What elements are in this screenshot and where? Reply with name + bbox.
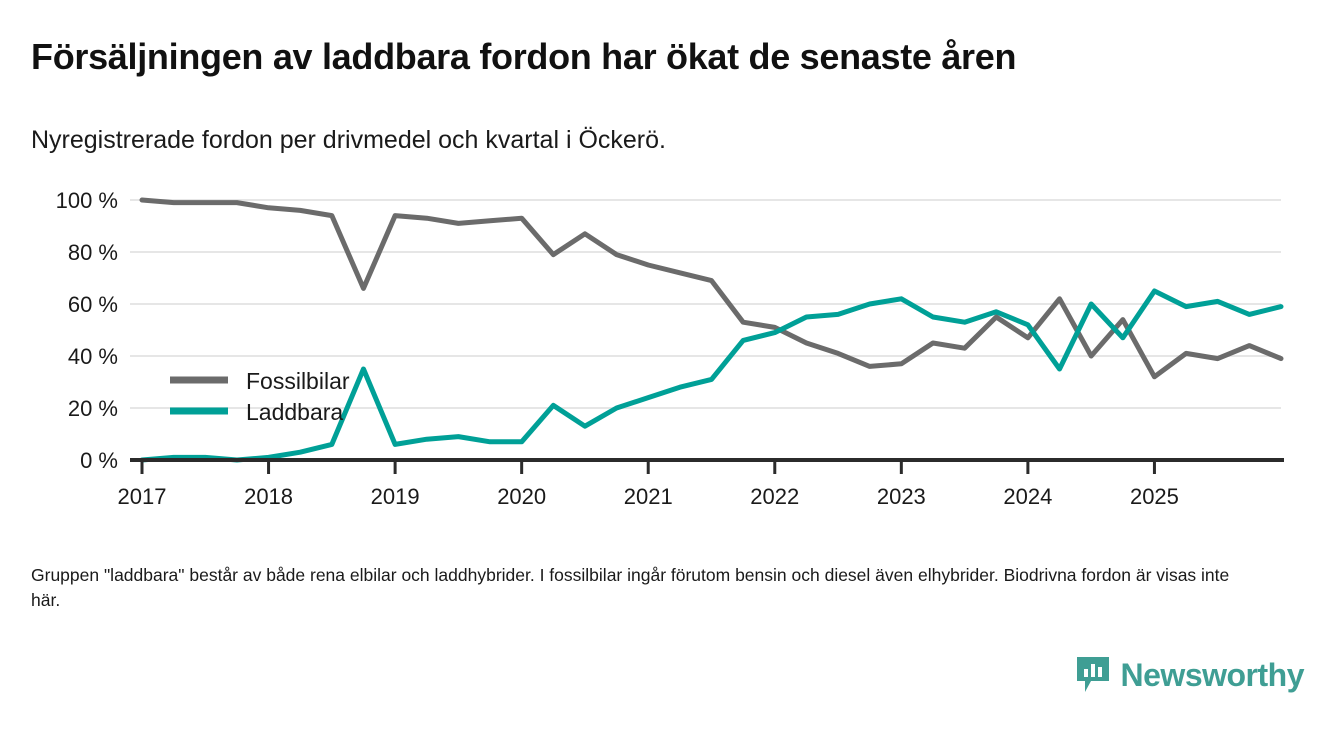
chart-svg: 0 %20 %40 %60 %80 %100 % 201720182019202… bbox=[0, 175, 1340, 520]
newsworthy-logo-text: Newsworthy bbox=[1121, 659, 1304, 691]
page-title: Försäljningen av laddbara fordon har öka… bbox=[31, 36, 1016, 78]
x-axis-tick-label: 2023 bbox=[877, 484, 926, 509]
newsworthy-logo: Newsworthy bbox=[1075, 655, 1304, 695]
x-axis-tick-label: 2025 bbox=[1130, 484, 1179, 509]
chart-footnote: Gruppen "laddbara" består av både rena e… bbox=[31, 563, 1246, 614]
x-axis-tick-label: 2021 bbox=[624, 484, 673, 509]
y-axis-tick-label: 20 % bbox=[68, 396, 118, 421]
line-chart: 0 %20 %40 %60 %80 %100 % 201720182019202… bbox=[0, 175, 1340, 520]
x-axis-tick-label: 2018 bbox=[244, 484, 293, 509]
y-axis-tick-label: 80 % bbox=[68, 240, 118, 265]
series-line-fossilbilar bbox=[142, 200, 1281, 377]
y-axis-tick-label: 100 % bbox=[56, 188, 118, 213]
newsworthy-bar-chart-icon bbox=[1075, 655, 1111, 695]
legend-label-laddbara: Laddbara bbox=[246, 399, 343, 425]
chart-page: Försäljningen av laddbara fordon har öka… bbox=[0, 0, 1340, 733]
y-axis-tick-label: 0 % bbox=[80, 448, 118, 473]
x-axis-tick-label: 2017 bbox=[118, 484, 167, 509]
y-axis-tick-label: 40 % bbox=[68, 344, 118, 369]
x-axis-tick-label: 2024 bbox=[1003, 484, 1052, 509]
x-axis-tick-label: 2019 bbox=[371, 484, 420, 509]
chart-subtitle: Nyregistrerade fordon per drivmedel och … bbox=[31, 126, 666, 155]
chart-legend: FossilbilarLaddbara bbox=[170, 368, 350, 425]
legend-label-fossilbilar: Fossilbilar bbox=[246, 368, 350, 394]
chart-y-axis-labels: 0 %20 %40 %60 %80 %100 % bbox=[56, 188, 118, 473]
chart-x-axis-labels: 201720182019202020212022202320242025 bbox=[118, 484, 1179, 509]
x-axis-tick-label: 2022 bbox=[750, 484, 799, 509]
x-axis-tick-label: 2020 bbox=[497, 484, 546, 509]
y-axis-tick-label: 60 % bbox=[68, 292, 118, 317]
chart-x-axis bbox=[130, 460, 1284, 474]
